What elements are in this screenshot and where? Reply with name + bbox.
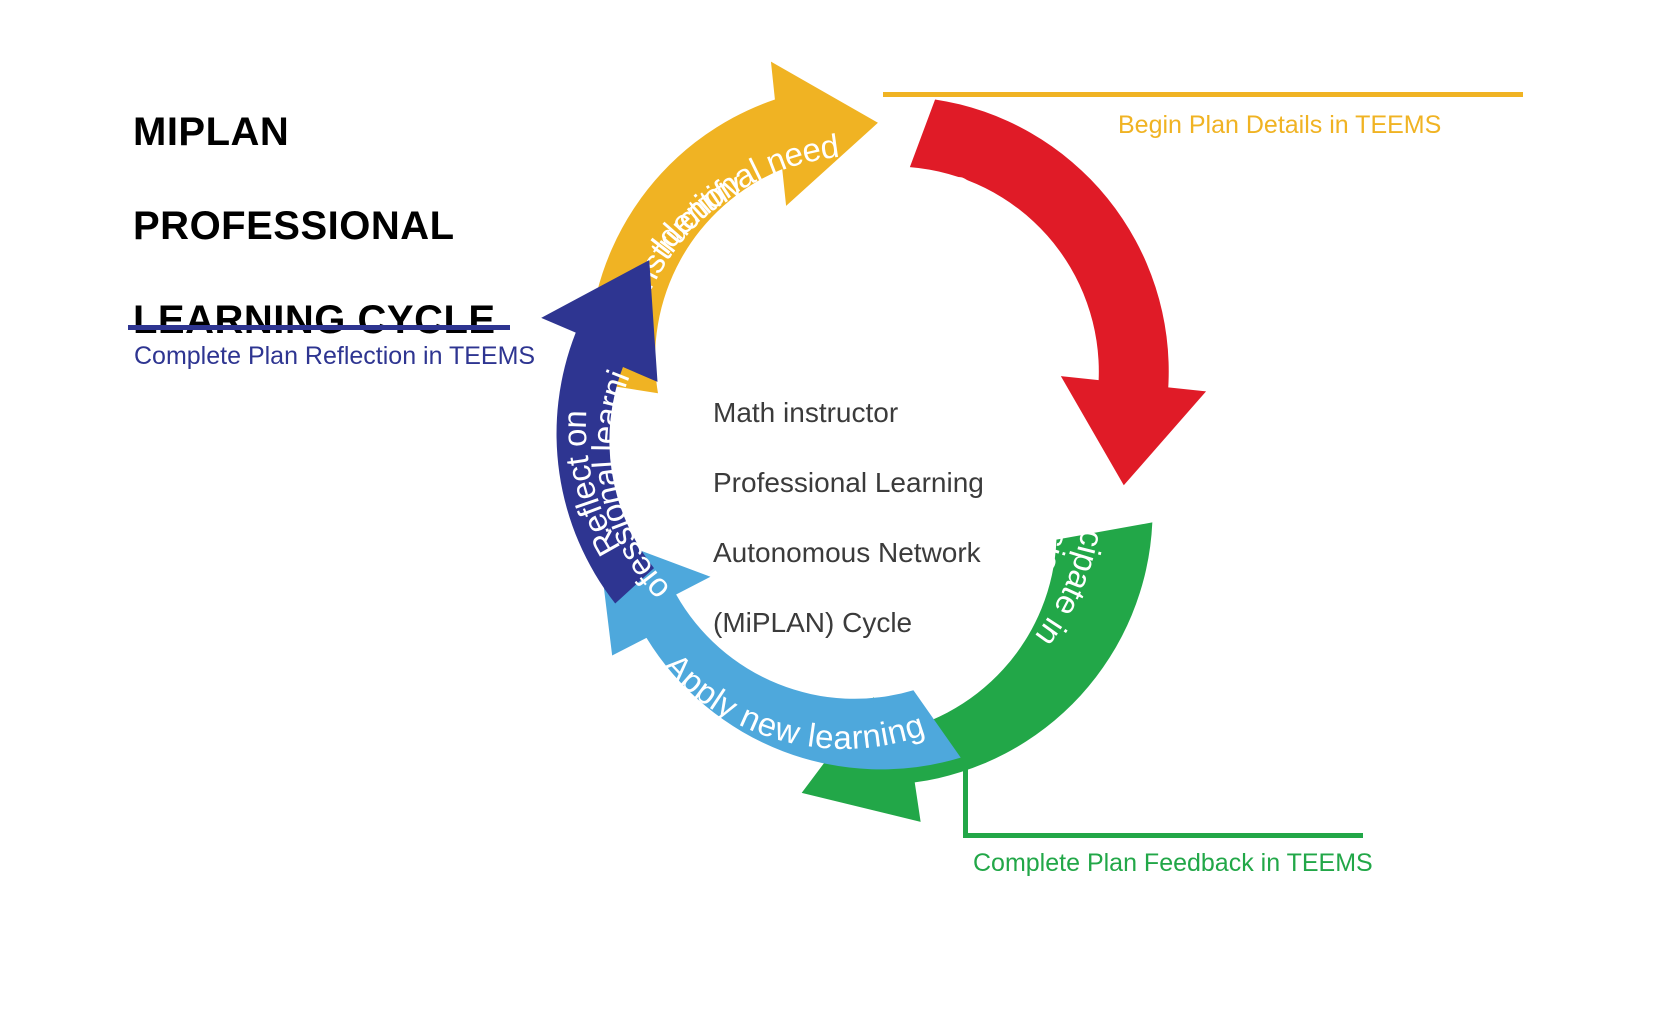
- cycle-center-label-line-4: (MiPLAN) Cycle: [713, 605, 1023, 640]
- cycle-center-label-line-3: Autonomous Network: [713, 535, 1023, 570]
- callout-rule-green-horizontal: [963, 833, 1363, 838]
- cycle-center-label: Math instructor Professional Learning Au…: [713, 360, 1023, 675]
- callout-complete-plan-feedback-label: Complete Plan Feedback in TEEMS: [973, 848, 1373, 878]
- callout-rule-navy: [128, 325, 510, 330]
- diagram-canvas: MIPLAN PROFESSIONAL LEARNING CYCLE: [0, 0, 1659, 1015]
- callout-begin-plan-details: Begin Plan Details in TEEMS: [883, 92, 1523, 162]
- callout-complete-plan-feedback: Complete Plan Feedback in TEEMS: [963, 760, 1363, 870]
- callout-complete-plan-reflection-label: Complete Plan Reflection in TEEMS: [134, 341, 535, 371]
- callout-rule-green-vertical: [963, 760, 968, 838]
- cycle-center-label-line-1: Math instructor: [713, 395, 1023, 430]
- cycle-center-label-line-2: Professional Learning: [713, 465, 1023, 500]
- callout-rule-yellow: [883, 92, 1523, 97]
- callout-begin-plan-details-label: Begin Plan Details in TEEMS: [1118, 110, 1441, 140]
- cycle-step-reflect[interactable]: Reflect on professional learning: [451, 34, 676, 609]
- callout-complete-plan-reflection: Complete Plan Reflection in TEEMS: [128, 325, 510, 395]
